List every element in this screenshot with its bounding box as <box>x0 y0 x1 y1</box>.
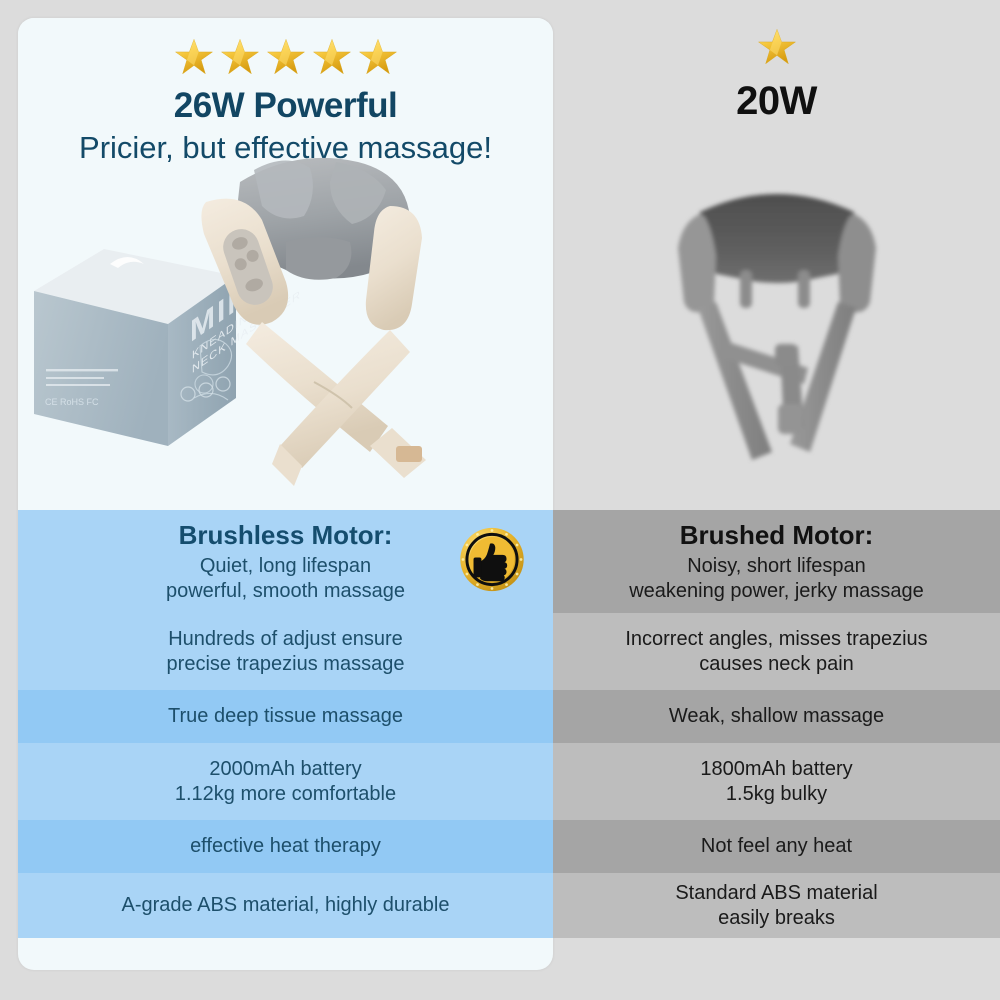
infographic-root: 20W <box>0 0 1000 1000</box>
comparison-left-column: Brushless Motor: Quiet, long lifespan po… <box>18 510 553 938</box>
competitor-massager-photo <box>612 152 942 482</box>
table-row: Incorrect angles, misses trapezius cause… <box>553 613 1000 690</box>
page-title: 26W Powerful <box>174 87 397 126</box>
thumbs-up-badge <box>459 526 525 597</box>
table-row: Weak, shallow massage <box>553 690 1000 743</box>
comparison-right-column: Brushed Motor: Noisy, short lifespan wea… <box>553 510 1000 938</box>
competitor-wattage-title: 20W <box>736 79 817 124</box>
table-row: 2000mAh battery 1.12kg more comfortable <box>18 743 553 820</box>
rating-stars <box>173 36 399 83</box>
table-row: 1800mAh battery 1.5kg bulky <box>553 743 1000 820</box>
star-icon <box>756 26 798 73</box>
star-icon <box>219 36 261 83</box>
table-row: Hundreds of adjust ensure precise trapez… <box>18 613 553 690</box>
star-icon <box>173 36 215 83</box>
star-icon <box>357 36 399 83</box>
table-row: True deep tissue massage <box>18 690 553 743</box>
neck-massager-product-photo: MINI KNEADING NECK MASSAGER <box>18 146 553 491</box>
row-heading: Brushed Motor: <box>629 519 924 552</box>
table-row: Brushed Motor: Noisy, short lifespan wea… <box>553 510 1000 613</box>
svg-text:CE RoHS FC: CE RoHS FC <box>45 397 99 407</box>
table-row: effective heat therapy <box>18 820 553 873</box>
table-row: A-grade ABS material, highly durable <box>18 873 553 938</box>
table-row: Not feel any heat <box>553 820 1000 873</box>
table-row: Brushless Motor: Quiet, long lifespan po… <box>18 510 553 613</box>
row-heading: Brushless Motor: <box>166 519 405 552</box>
featured-header: 26W Powerful Pricier, but effective mass… <box>18 18 553 492</box>
table-row: Standard ABS material easily breaks <box>553 873 1000 938</box>
star-icon <box>311 36 353 83</box>
star-icon <box>265 36 307 83</box>
